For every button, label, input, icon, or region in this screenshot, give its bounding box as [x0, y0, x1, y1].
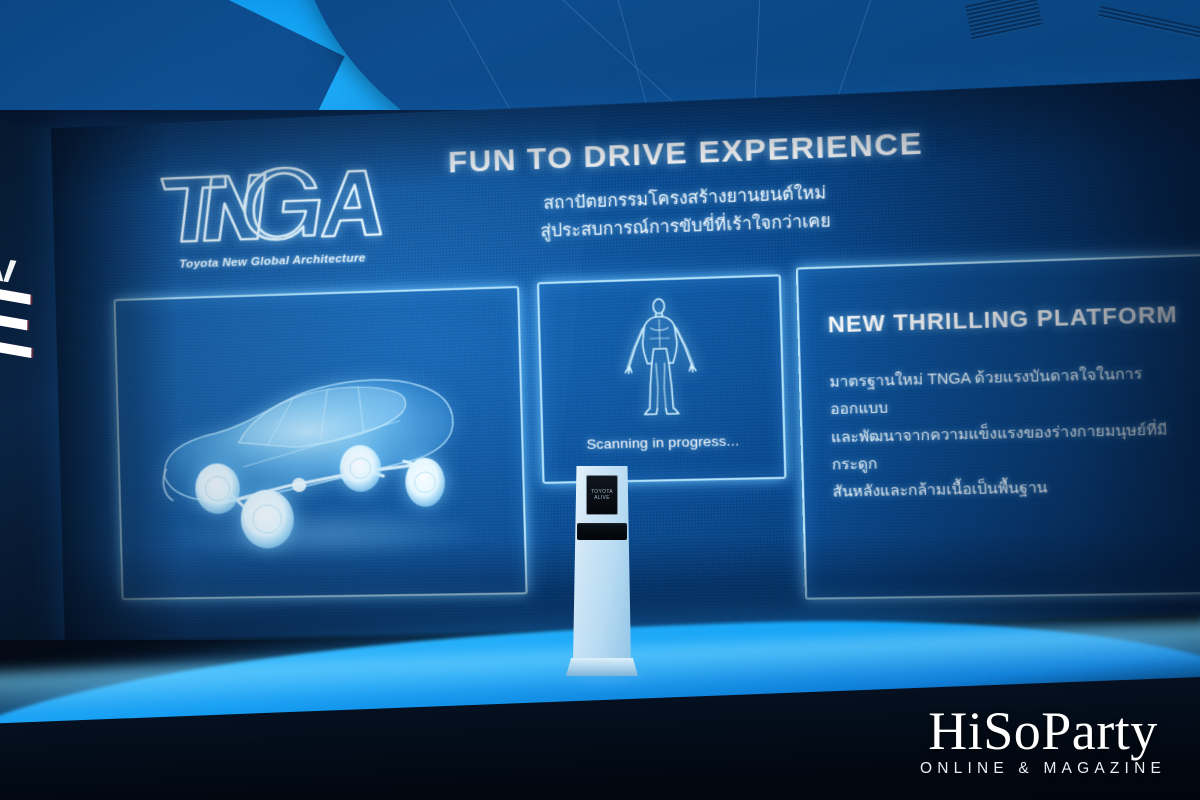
subline-block: สถาปัตยกรรมโครงสร้างยานยนต์ใหม่ สู่ประสบ… [388, 173, 990, 250]
kiosk-display[interactable]: TOYOTA ALIVE [586, 475, 618, 515]
platform-body: มาตรฐานใหม่ TNGA ด้วยแรงบันดาลใจในการออก… [829, 359, 1200, 506]
tnga-logo: Toyota New Global Architecture [140, 150, 404, 272]
car-xray-icon [143, 338, 509, 565]
platform-body-line-1: มาตรฐานใหม่ TNGA ด้วยแรงบันดาลใจในการออก… [829, 359, 1198, 424]
scanner-kiosk[interactable]: TOYOTA ALIVE [566, 466, 638, 680]
headline-text: FUN TO DRIVE EXPERIENCE [387, 124, 989, 183]
platform-body-line-2: และพัฒนาจากความแข็งแรงของร่างกายมนุษย์ที… [831, 415, 1200, 479]
platform-title: NEW THRILLING PLATFORM [828, 301, 1199, 338]
kiosk-logo-line-2: ALIVE [594, 495, 610, 501]
kiosk-screen-logo: TOYOTA ALIVE [591, 489, 613, 501]
human-body-wireframe-icon [618, 296, 703, 421]
panel-scanning: Scanning in progress... [537, 274, 787, 484]
kiosk-sensor-strip [577, 523, 627, 540]
panel-platform: NEW THRILLING PLATFORM มาตรฐานใหม่ TNGA … [796, 254, 1200, 600]
panel-car [114, 286, 528, 600]
scanning-status-text: Scanning in progress... [543, 432, 783, 453]
kiosk-base [566, 658, 638, 676]
exhibition-scene: V E [0, 0, 1200, 800]
tnga-wordmark-icon [155, 151, 387, 256]
headline-block: FUN TO DRIVE EXPERIENCE สถาปัตยกรรมโครงส… [387, 124, 991, 251]
